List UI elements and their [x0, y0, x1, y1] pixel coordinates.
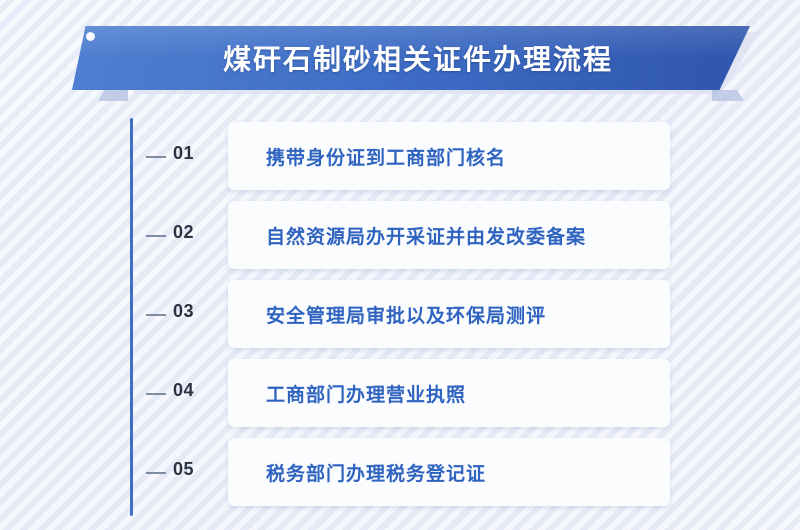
- step-label: 携带身份证到工商部门核名: [228, 143, 506, 170]
- step-number: 02: [173, 222, 207, 243]
- step-card[interactable]: 税务部门办理税务登记证: [228, 438, 670, 506]
- step-label: 自然资源局办开采证并由发改委备案: [228, 222, 586, 249]
- timeline-tick-icon: [146, 235, 166, 237]
- timeline-tick-icon: [146, 472, 166, 474]
- list-item[interactable]: 05 税务部门办理税务登记证: [0, 434, 800, 513]
- header-banner: 煤矸石制砂相关证件办理流程: [0, 18, 800, 100]
- list-item[interactable]: 03 安全管理局审批以及环保局测评: [0, 276, 800, 355]
- timeline-steps: 01 携带身份证到工商部门核名 02 自然资源局办开采证并由发改委备案 03 安…: [0, 118, 800, 513]
- banner-ribbon-tail-right: [712, 90, 744, 101]
- timeline-tick-icon: [146, 314, 166, 316]
- list-item[interactable]: 02 自然资源局办开采证并由发改委备案: [0, 197, 800, 276]
- banner-shape: 煤矸石制砂相关证件办理流程: [72, 26, 750, 90]
- infographic-page: 煤矸石制砂相关证件办理流程 01 携带身份证到工商部门核名 02 自然资源局办开…: [0, 0, 800, 530]
- step-label: 工商部门办理营业执照: [228, 380, 466, 407]
- step-card[interactable]: 安全管理局审批以及环保局测评: [228, 280, 670, 348]
- timeline-tick-icon: [146, 156, 166, 158]
- step-label: 安全管理局审批以及环保局测评: [228, 301, 546, 328]
- list-item[interactable]: 01 携带身份证到工商部门核名: [0, 118, 800, 197]
- step-number: 01: [173, 143, 207, 164]
- step-number: 03: [173, 301, 207, 322]
- page-title: 煤矸石制砂相关证件办理流程: [72, 26, 750, 90]
- banner-ribbon-tail-left: [98, 90, 128, 101]
- step-card[interactable]: 携带身份证到工商部门核名: [228, 122, 670, 190]
- banner-dot-icon: [86, 32, 95, 41]
- list-item[interactable]: 04 工商部门办理营业执照: [0, 355, 800, 434]
- step-card[interactable]: 自然资源局办开采证并由发改委备案: [228, 201, 670, 269]
- step-number: 04: [173, 380, 207, 401]
- step-number: 05: [173, 459, 207, 480]
- step-card[interactable]: 工商部门办理营业执照: [228, 359, 670, 427]
- step-label: 税务部门办理税务登记证: [228, 459, 486, 486]
- timeline-tick-icon: [146, 393, 166, 395]
